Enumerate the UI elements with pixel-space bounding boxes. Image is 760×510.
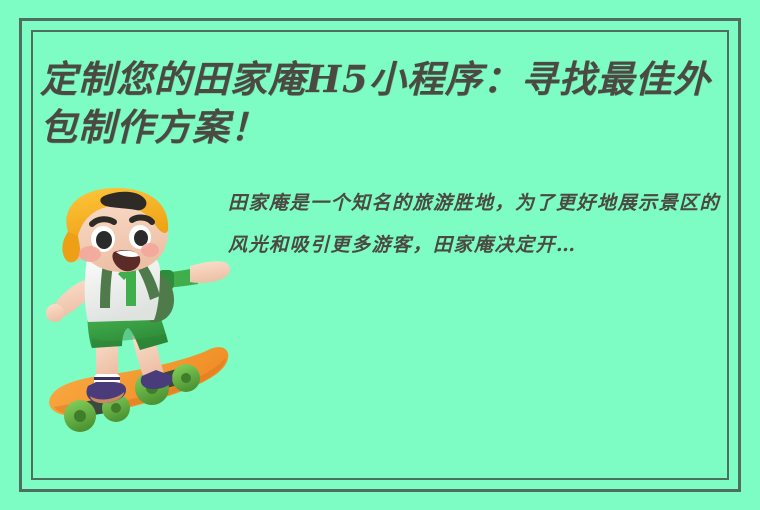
poster-canvas: 定制您的田家庵H5小程序：寻找最佳外包制作方案！ 田家庵是一个知名的旅游胜地，为…	[0, 0, 760, 510]
cheek-left	[79, 246, 101, 262]
wheel-front-left-hub	[74, 410, 86, 422]
body-paragraph: 田家庵是一个知名的旅游胜地，为了更好地展示景区的风光和吸引更多游客，田家庵决定开…	[228, 182, 720, 266]
head-group	[62, 188, 168, 272]
wheel-rear-right-hub	[181, 373, 191, 383]
cap-brim	[62, 232, 80, 262]
sock-left-stripe	[94, 377, 120, 380]
hand-right	[190, 261, 230, 283]
pupil-right	[134, 230, 148, 246]
boy-on-skateboard-illustration	[40, 188, 235, 460]
pupil-left	[96, 231, 112, 249]
wheel-front-right-hub	[111, 403, 121, 413]
cheek-right	[141, 243, 159, 257]
page-title: 定制您的田家庵H5小程序：寻找最佳外包制作方案！	[40, 55, 740, 151]
hand-left	[46, 304, 64, 322]
